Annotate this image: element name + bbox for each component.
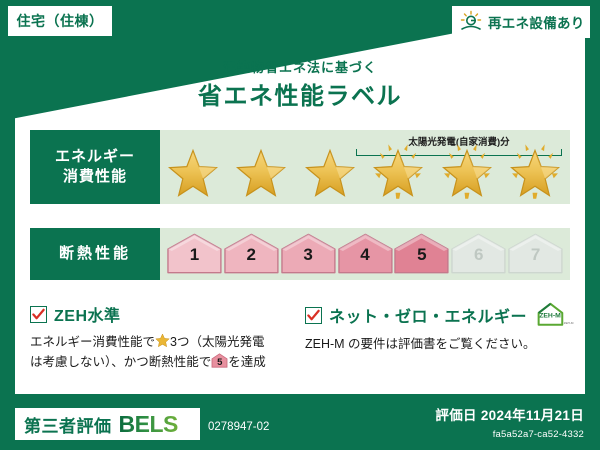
insulation-level-2: 2 — [223, 232, 280, 276]
energy-label-line2: 消費性能 — [63, 167, 127, 187]
star-2 — [232, 142, 290, 200]
zeh-criteria-title: ZEH水準 — [54, 302, 121, 326]
energy-performance-row: エネルギー 消費性能 太陽光発電(自家消費)分 — [30, 130, 570, 204]
star-3 — [301, 142, 359, 200]
star-4-solar — [369, 142, 427, 200]
star-6-solar — [506, 142, 564, 200]
svg-text:ZEH-M: ZEH-M — [564, 321, 574, 325]
zeh-m-logo-icon: ZEH-M ZEH-M — [535, 302, 575, 328]
net-zero-criteria-title: ネット・ゼロ・エネルギー — [329, 303, 527, 327]
energy-performance-label: 住宅（住棟） 再エネ設備あり 建築物省エネ法に基づく 省エネ性能ラベル — [0, 0, 600, 450]
insulation-level-5: 5 — [393, 232, 450, 276]
star-rating — [164, 142, 564, 200]
evaluation-date: 評価日 2024年11月21日 — [435, 404, 584, 424]
bels-evaluation-box: 第三者評価 BELS — [15, 408, 200, 440]
inline-insulation-badge: 5 — [211, 353, 228, 368]
renewable-equipment-badge: 再エネ設備あり — [452, 6, 590, 38]
zeh-desc-part1: エネルギー消費性能で — [30, 335, 155, 349]
inline-badge-value: 5 — [211, 355, 228, 370]
bels-logo-text: BELS — [119, 413, 178, 436]
bels-certificate-number: 0278947-02 — [208, 421, 269, 433]
insulation-level-4: 4 — [337, 232, 394, 276]
zeh-criteria-description: エネルギー消費性能で 3つ（太陽光発電 は考慮しない）、かつ断熱性能で 5 を達… — [30, 332, 300, 372]
third-party-evaluation-label: 第三者評価 — [24, 412, 112, 437]
star-5-solar — [438, 142, 496, 200]
renewable-badge-label: 再エネ設備あり — [488, 12, 585, 32]
inline-star-icon — [155, 333, 170, 348]
star-1 — [164, 142, 222, 200]
insulation-level-1: 1 — [166, 232, 223, 276]
page-title: 省エネ性能ラベル — [0, 76, 600, 111]
insulation-level-7: 7 — [507, 232, 564, 276]
insulation-performance-row: 断熱性能 1 2 3 4 5 6 7 — [30, 228, 570, 280]
net-zero-checkbox — [305, 307, 322, 324]
building-type-tag-label: 住宅（住棟） — [17, 11, 104, 31]
evaluation-id: fa5a52a7-ca52-4332 — [493, 429, 584, 440]
sun-renewable-icon — [459, 10, 483, 34]
insulation-label-text: 断熱性能 — [59, 244, 131, 264]
energy-performance-label: エネルギー 消費性能 — [30, 130, 160, 204]
net-zero-criteria-description: ZEH-M の要件は評価書をご覧ください。 — [305, 334, 575, 354]
zeh-criteria-header: ZEH水準 — [30, 302, 300, 326]
zeh-desc-stars: 3つ（太陽光発電 — [170, 335, 264, 349]
energy-rating-area: 太陽光発電(自家消費)分 — [160, 130, 570, 204]
label-subtitle: 建築物省エネ法に基づく — [0, 57, 600, 76]
insulation-level-6: 6 — [450, 232, 507, 276]
insulation-performance-label: 断熱性能 — [30, 228, 160, 280]
zeh-checkbox — [30, 306, 47, 323]
zeh-desc-part2: は考慮しない）、かつ断熱性能で — [30, 355, 211, 369]
zeh-criteria-block: ZEH水準 エネルギー消費性能で 3つ（太陽光発電 は考慮しない）、かつ断熱性能… — [30, 302, 300, 372]
insulation-level-3: 3 — [280, 232, 337, 276]
svg-text:ZEH-M: ZEH-M — [539, 312, 561, 319]
net-zero-criteria-header: ネット・ゼロ・エネルギー ZEH-M ZEH-M — [305, 302, 575, 328]
insulation-level-scale: 1 2 3 4 5 6 7 — [166, 231, 564, 277]
net-zero-criteria-block: ネット・ゼロ・エネルギー ZEH-M ZEH-M ZEH-M の要件は評価書をご… — [305, 302, 575, 354]
energy-label-line1: エネルギー — [55, 147, 135, 167]
zeh-desc-part3: を達成 — [228, 355, 266, 369]
building-type-tag: 住宅（住棟） — [8, 6, 112, 36]
insulation-level-area: 1 2 3 4 5 6 7 — [160, 228, 570, 280]
